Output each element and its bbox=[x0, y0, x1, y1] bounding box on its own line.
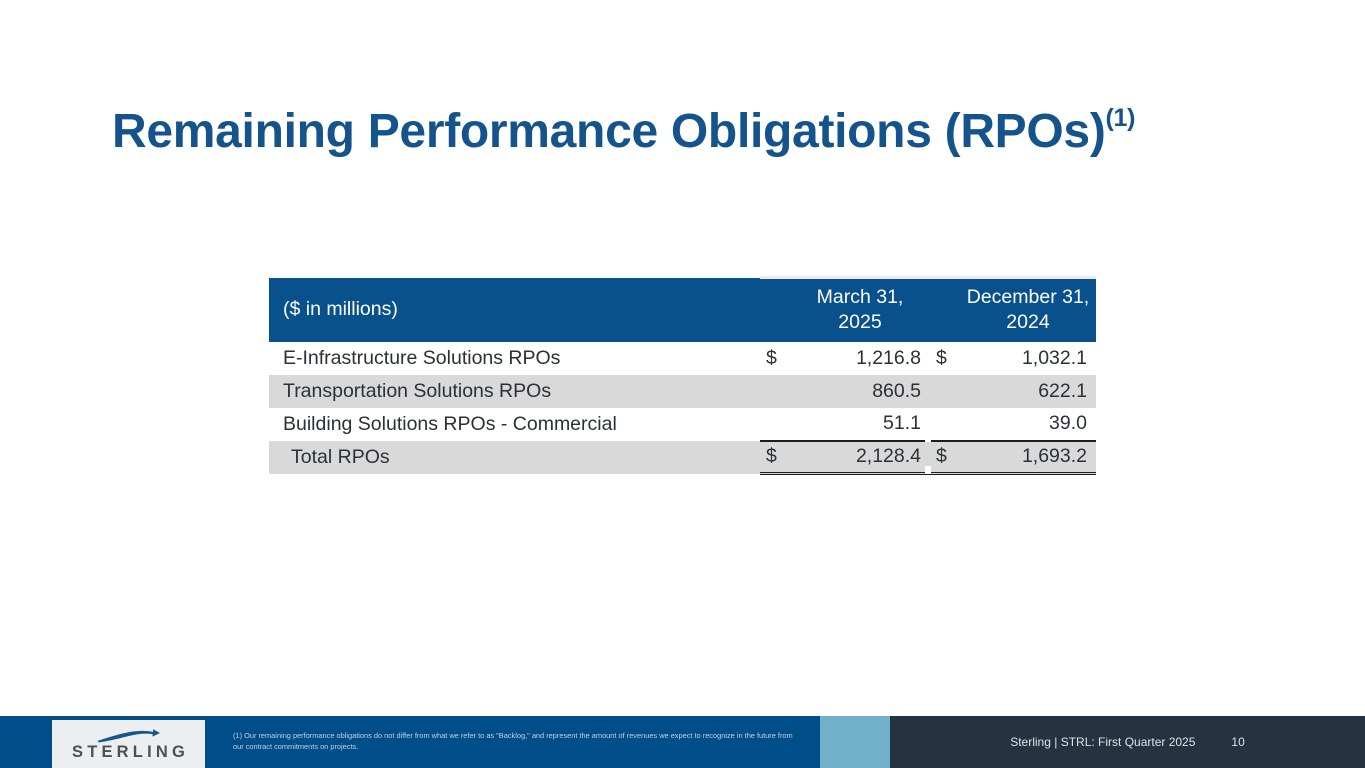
footer-right-group: Sterling | STRL: First Quarter 2025 10 bbox=[890, 716, 1365, 768]
swoosh-icon bbox=[96, 728, 162, 743]
table-row: Transportation Solutions RPOs 860.5 622.… bbox=[269, 375, 1096, 408]
table-header-march-2025: March 31, 2025 bbox=[790, 278, 930, 342]
row-value-march-transportation: 860.5 bbox=[790, 375, 930, 408]
header-march-line1: March 31, bbox=[817, 286, 904, 308]
row-currency-march-total: $ bbox=[760, 441, 790, 474]
page-title: Remaining Performance Obligations (RPOs)… bbox=[112, 104, 1135, 159]
page-title-footnote-marker: (1) bbox=[1106, 104, 1136, 132]
page-title-main: Remaining Performance Obligations (RPOs) bbox=[112, 105, 1106, 158]
row-value-december-e-infrastructure: 1,032.1 bbox=[960, 342, 1096, 375]
row-label-e-infrastructure: E-Infrastructure Solutions RPOs bbox=[269, 342, 760, 375]
table-row: E-Infrastructure Solutions RPOs $ 1,216.… bbox=[269, 342, 1096, 375]
sterling-logo: STERLING bbox=[52, 720, 205, 768]
page-number: 10 bbox=[1231, 735, 1244, 749]
header-march-line2: 2025 bbox=[838, 311, 881, 333]
footer-brand-text: Sterling | STRL: First Quarter 2025 bbox=[1010, 735, 1195, 749]
row-currency-march-e-infrastructure: $ bbox=[760, 342, 790, 375]
header-december-line1: December 31, bbox=[967, 286, 1089, 308]
footer-band-lightblue bbox=[820, 716, 890, 768]
row-value-december-transportation: 622.1 bbox=[960, 375, 1096, 408]
row-label-building: Building Solutions RPOs - Commercial bbox=[269, 408, 760, 441]
table-header-units: ($ in millions) bbox=[269, 278, 760, 342]
table-header-currency-spacer-2 bbox=[930, 278, 960, 342]
table-row-total: Total RPOs $ 2,128.4 $ 1,693.2 bbox=[269, 441, 1096, 474]
row-value-december-building: 39.0 bbox=[960, 408, 1096, 441]
footnote-text: (1) Our remaining performance obligation… bbox=[233, 731, 793, 752]
row-currency-december-e-infrastructure: $ bbox=[930, 342, 960, 375]
table-header-december-2024: December 31, 2024 bbox=[960, 278, 1096, 342]
slide-footer: STERLING (1) Our remaining performance o… bbox=[0, 716, 1365, 768]
row-currency-march-building bbox=[760, 408, 790, 441]
rule-gutter-upper bbox=[925, 438, 931, 442]
rpo-table: ($ in millions) March 31, 2025 December … bbox=[269, 276, 1096, 475]
row-currency-december-building bbox=[930, 408, 960, 441]
table-header-row: ($ in millions) March 31, 2025 December … bbox=[269, 278, 1096, 342]
table-row: Building Solutions RPOs - Commercial 51.… bbox=[269, 408, 1096, 441]
row-value-march-e-infrastructure: 1,216.8 bbox=[790, 342, 930, 375]
row-currency-march-transportation bbox=[760, 375, 790, 408]
row-value-march-total: 2,128.4 bbox=[790, 441, 930, 474]
rule-gutter-lower bbox=[925, 466, 931, 474]
sterling-logo-wordmark: STERLING bbox=[68, 744, 189, 761]
row-currency-december-total: $ bbox=[930, 441, 960, 474]
row-label-total: Total RPOs bbox=[269, 441, 760, 474]
row-currency-december-transportation bbox=[930, 375, 960, 408]
table-header-currency-spacer-1 bbox=[760, 278, 790, 342]
row-value-march-building: 51.1 bbox=[790, 408, 930, 441]
header-december-line2: 2024 bbox=[1006, 311, 1049, 333]
row-value-december-total: 1,693.2 bbox=[960, 441, 1096, 474]
row-label-transportation: Transportation Solutions RPOs bbox=[269, 375, 760, 408]
